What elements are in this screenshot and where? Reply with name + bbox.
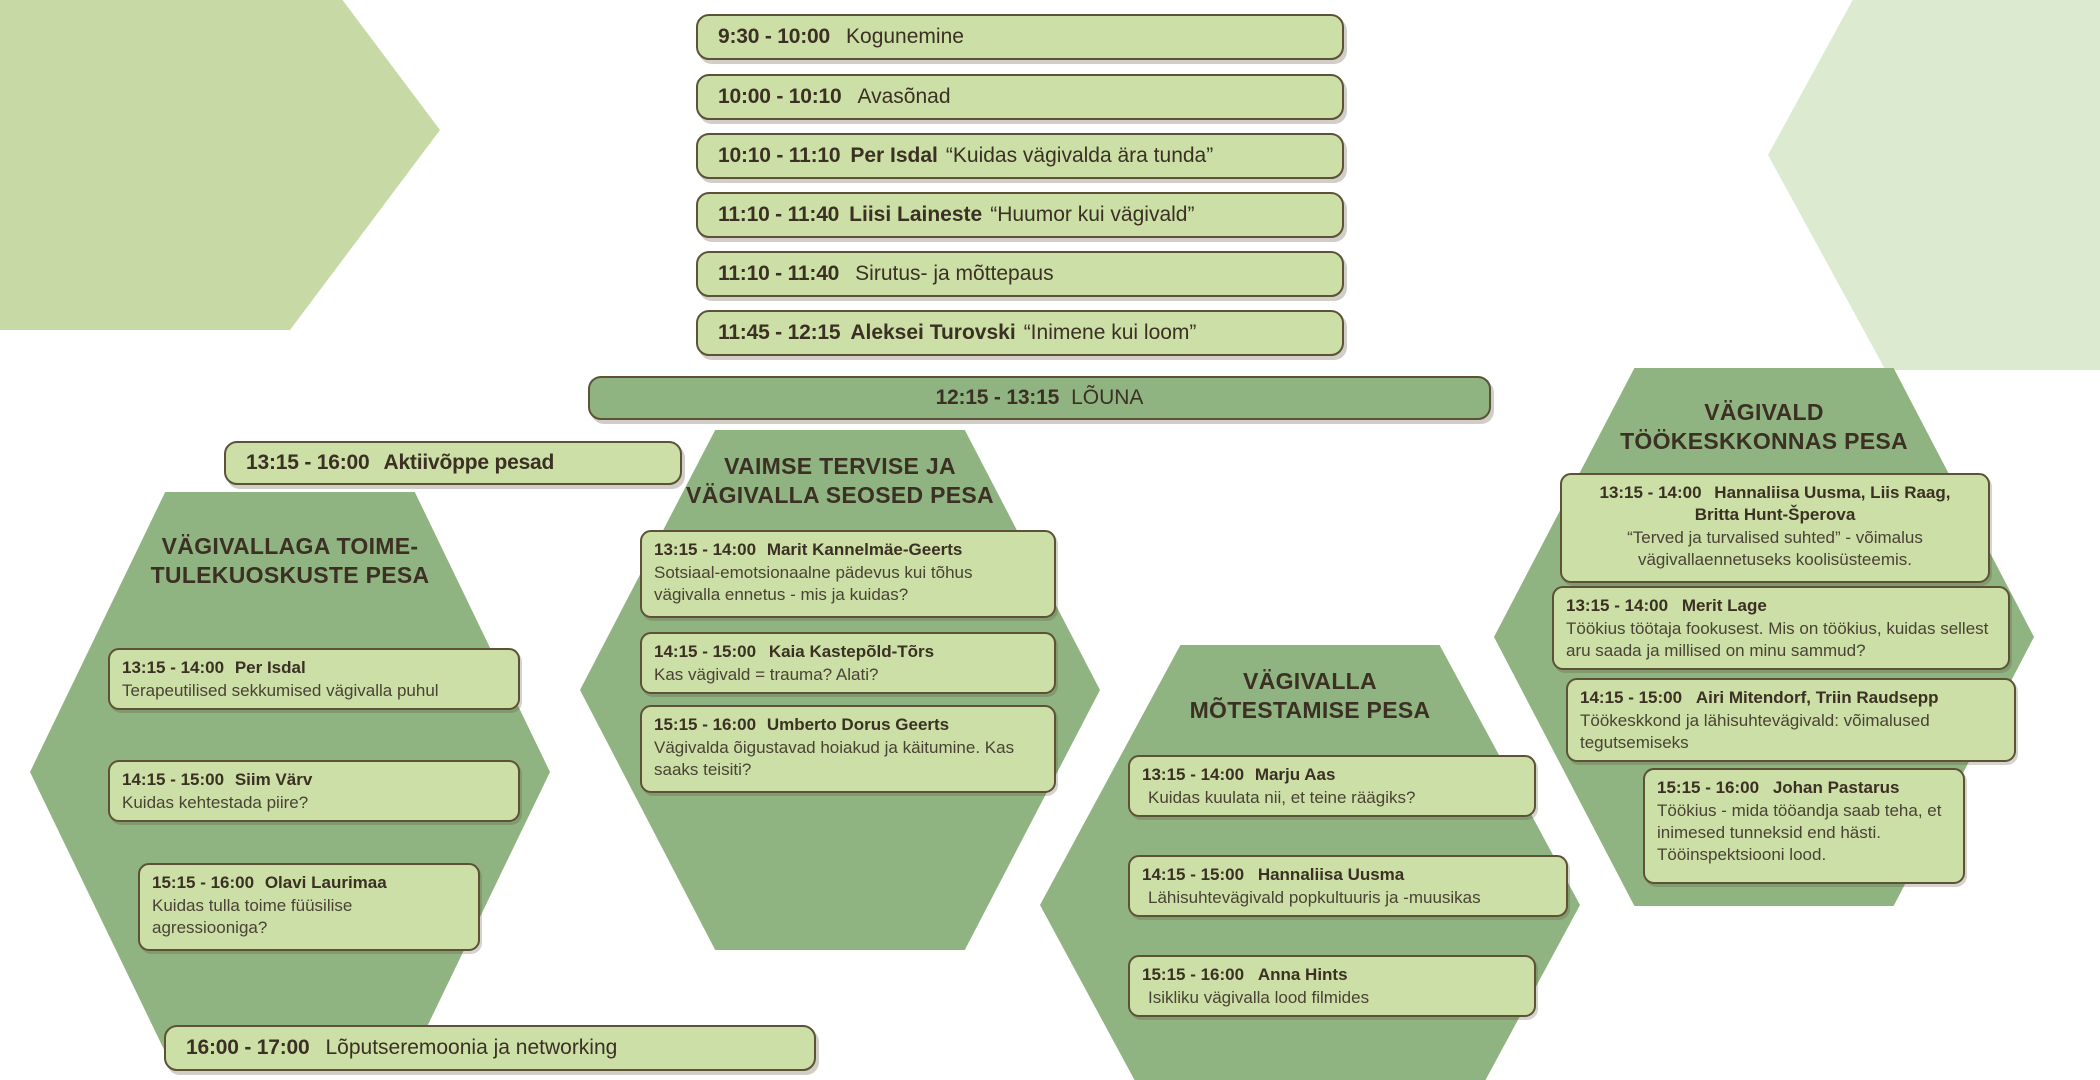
decorative-hexagon-top-right [1768,0,2100,370]
session-card: 13:15 - 14:00 Marit Kannelmäe-Geerts Sot… [640,530,1056,618]
session-desc: Kas vägivald = trauma? Alati? [654,664,1042,686]
session-speaker: Siim Värv [235,770,313,789]
nest-title-line1: VAIMSE TERVISE JA [580,452,1100,481]
lunch-label: LÕUNA [1071,386,1143,410]
plenary-row-1: 10:00 - 10:10 Avasõnad [696,74,1344,120]
session-card: 14:15 - 15:00 Siim Värv Kuidas kehtestad… [108,760,520,822]
session-time: 15:15 - 16:00 [1142,965,1244,984]
decorative-hexagon-top-left [0,0,440,330]
session-card: 14:15 - 15:00 Kaia Kastepõld-Tõrs Kas vä… [640,632,1056,694]
session-card: 13:15 - 14:00 Marju Aas Kuidas kuulata n… [1128,755,1536,817]
session-card: 15:15 - 16:00 Umberto Dorus Geerts Vägiv… [640,705,1056,793]
session-time: 15:15 - 16:00 [1657,778,1759,797]
schedule-poster: 9:30 - 10:00 Kogunemine 10:00 - 10:10 Av… [0,0,2100,1080]
session-speaker-2: Britta Hunt-Šperova [1574,504,1976,526]
workshops-time: 13:15 - 16:00 [246,451,369,475]
session-card: 15:15 - 16:00 Anna Hints Isikliku vägiva… [1128,955,1536,1017]
plenary-row-3: 11:10 - 11:40 Liisi Laineste “Huumor kui… [696,192,1344,238]
session-time: 13:15 - 14:00 [1142,765,1244,784]
session-card: 14:15 - 15:00 Hannaliisa Uusma Lähisuhte… [1128,855,1568,917]
session-desc: Kuidas kehtestada piire? [122,792,506,814]
session-desc: Sotsiaal-emotsionaalne pädevus kui tõhus… [654,562,1042,606]
session-speaker: Airi Mitendorf, Triin Raudsepp [1696,688,1939,707]
nest-title-line2: VÄGIVALLA SEOSED PESA [580,481,1100,510]
session-desc: Vägivalda õigustavad hoiakud ja käitumin… [654,737,1042,781]
nest-title-line2: TULEKUOSKUSTE PESA [30,561,550,590]
session-card: 13:15 - 14:00 Per Isdal Terapeutilised s… [108,648,520,710]
plenary-desc: Sirutus- ja mõttepaus [855,262,1053,286]
plenary-row-4: 11:10 - 11:40 Sirutus- ja mõttepaus [696,251,1344,297]
session-speaker: Olavi Laurimaa [265,873,387,892]
plenary-speaker: Liisi Laineste [849,203,982,227]
session-speaker: Hannaliisa Uusma, Liis Raag, [1714,483,1950,502]
session-card: 14:15 - 15:00 Airi Mitendorf, Triin Raud… [1566,678,2016,762]
workshops-label: Aktiivõppe pesad [383,451,554,475]
closing-label: Lõputseremoonia ja networking [325,1036,617,1060]
nest-title: VÄGIVALLAGA TOIME- TULEKUOSKUSTE PESA [30,532,550,590]
plenary-row-0: 9:30 - 10:00 Kogunemine [696,14,1344,60]
session-card: 15:15 - 16:00 Olavi Laurimaa Kuidas tull… [138,863,480,951]
session-heading: 13:15 - 14:00 Per Isdal [122,657,506,679]
closing-bar: 16:00 - 17:00 Lõputseremoonia ja network… [164,1025,816,1071]
session-speaker: Marit Kannelmäe-Geerts [767,540,963,559]
session-card: 15:15 - 16:00 Johan Pastarus Töökius - m… [1643,768,1965,884]
session-desc: Kuidas kuulata nii, et teine räägiks? [1148,787,1522,809]
session-desc: Töökius töötaja fookusest. Mis on töökiu… [1566,618,1996,662]
plenary-time: 10:10 - 11:10 [718,144,840,168]
plenary-row-2: 10:10 - 11:10 Per Isdal “Kuidas vägivald… [696,133,1344,179]
session-time: 13:15 - 14:00 [1566,596,1668,615]
session-heading: 14:15 - 15:00 Siim Värv [122,769,506,791]
session-desc: Isikliku vägivalla lood filmides [1148,987,1522,1009]
plenary-time: 9:30 - 10:00 [718,25,830,49]
nest-title-line1: VÄGIVALLAGA TOIME- [30,532,550,561]
session-time: 14:15 - 15:00 [1580,688,1682,707]
session-heading: 14:15 - 15:00 Hannaliisa Uusma [1142,864,1554,886]
session-heading: 15:15 - 16:00 Johan Pastarus [1657,777,1951,799]
nest-title: VAIMSE TERVISE JA VÄGIVALLA SEOSED PESA [580,452,1100,510]
session-speaker: Marju Aas [1255,765,1336,784]
session-time: 14:15 - 15:00 [1142,865,1244,884]
session-time: 14:15 - 15:00 [654,642,756,661]
session-speaker: Anna Hints [1258,965,1348,984]
session-speaker: Kaia Kastepõld-Tõrs [769,642,934,661]
session-time: 13:15 - 14:00 [1599,483,1701,502]
plenary-time: 11:10 - 11:40 [718,262,839,286]
nest-title: VÄGIVALD TÖÖKESKKONNAS PESA [1494,398,2034,456]
plenary-time: 11:10 - 11:40 [718,203,839,227]
session-time: 13:15 - 14:00 [654,540,756,559]
session-heading: 13:15 - 14:00 Marju Aas [1142,764,1522,786]
plenary-desc: “Huumor kui vägivald” [990,203,1194,227]
plenary-desc: Avasõnad [857,85,950,109]
nest-title-line1: VÄGIVALD [1494,398,2034,427]
session-speaker: Per Isdal [235,658,306,677]
session-heading: 13:15 - 14:00 Merit Lage [1566,595,1996,617]
session-heading: 14:15 - 15:00 Kaia Kastepõld-Tõrs [654,641,1042,663]
session-time: 13:15 - 14:00 [122,658,224,677]
session-desc: Kuidas tulla toime füüsilise agressiooni… [152,895,466,939]
plenary-desc: “Inimene kui loom” [1024,321,1197,345]
session-heading: 13:15 - 14:00 Marit Kannelmäe-Geerts [654,539,1042,561]
session-desc: Töökeskkond ja lähisuhtevägivald: võimal… [1580,710,2002,754]
session-heading: 14:15 - 15:00 Airi Mitendorf, Triin Raud… [1580,687,2002,709]
nest-title-line2: TÖÖKESKKONNAS PESA [1494,427,2034,456]
plenary-desc: “Kuidas vägivalda ära tunda” [946,144,1213,168]
session-heading: 15:15 - 16:00 Olavi Laurimaa [152,872,466,894]
session-desc: Töökius - mida tööandja saab teha, et in… [1657,800,1951,866]
session-heading: 15:15 - 16:00 Anna Hints [1142,964,1522,986]
session-desc: “Terved ja turvalised suhted” - võimalus… [1574,527,1976,571]
plenary-row-5: 11:45 - 12:15 Aleksei Turovski “Inimene … [696,310,1344,356]
plenary-speaker: Per Isdal [850,144,938,168]
session-time: 15:15 - 16:00 [654,715,756,734]
session-speaker: Hannaliisa Uusma [1258,865,1404,884]
session-card: 13:15 - 14:00 Merit Lage Töökius töötaja… [1552,586,2010,670]
plenary-speaker: Aleksei Turovski [850,321,1015,345]
session-heading: 13:15 - 14:00 Hannaliisa Uusma, Liis Raa… [1574,482,1976,526]
session-time: 15:15 - 16:00 [152,873,254,892]
lunch-bar: 12:15 - 13:15 LÕUNA [588,376,1491,420]
session-desc: Lähisuhtevägivald popkultuuris ja -muusi… [1148,887,1554,909]
session-desc: Terapeutilised sekkumised vägivalla puhu… [122,680,506,702]
session-time: 14:15 - 15:00 [122,770,224,789]
session-speaker: Umberto Dorus Geerts [767,715,949,734]
session-heading: 15:15 - 16:00 Umberto Dorus Geerts [654,714,1042,736]
session-card: 13:15 - 14:00 Hannaliisa Uusma, Liis Raa… [1560,473,1990,583]
session-speaker: Merit Lage [1682,596,1767,615]
plenary-desc: Kogunemine [846,25,964,49]
plenary-time: 11:45 - 12:15 [718,321,840,345]
plenary-time: 10:00 - 10:10 [718,85,841,109]
lunch-time: 12:15 - 13:15 [936,386,1059,410]
closing-time: 16:00 - 17:00 [186,1036,309,1060]
session-speaker: Johan Pastarus [1773,778,1900,797]
